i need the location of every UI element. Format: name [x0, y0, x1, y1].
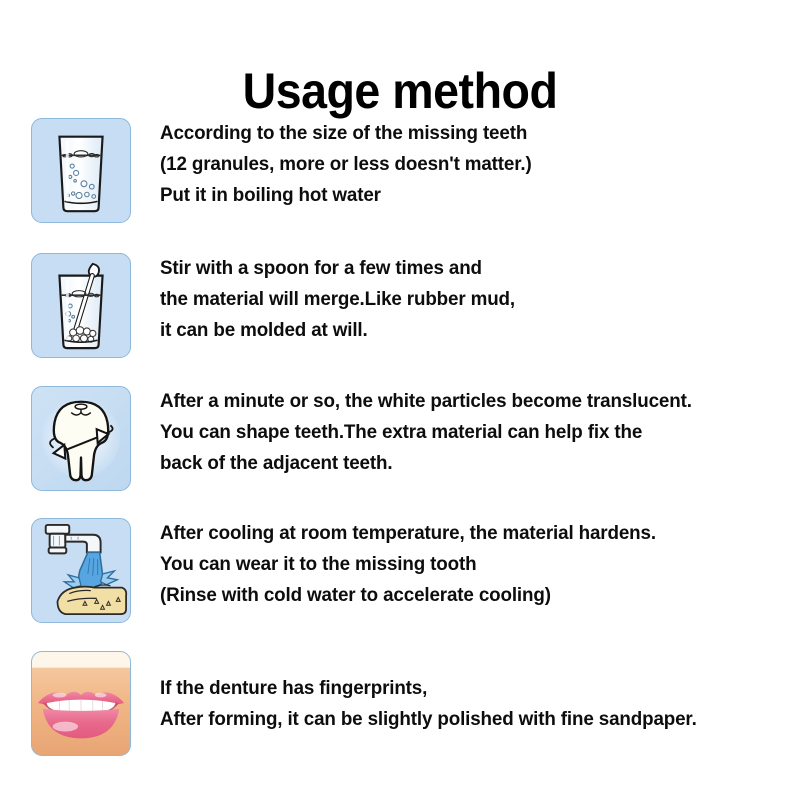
step-4-text: After cooling at room temperature, the m…: [160, 518, 768, 611]
glass-of-boiling-water-icon: [32, 119, 130, 222]
step-1-line-1: According to the size of the missing tee…: [160, 118, 768, 149]
glass-with-spoon-stirring-icon: [32, 254, 130, 357]
step-4-icon-panel: [31, 518, 131, 623]
step-2-text: Stir with a spoon for a few times and th…: [160, 253, 768, 346]
step-2-icon-panel: [31, 253, 131, 358]
step-3-text: After a minute or so, the white particle…: [160, 386, 768, 479]
smiling-mouth-teeth-icon: [32, 652, 130, 755]
tooth-shaping-icon: [32, 387, 130, 490]
step-5-line-2: After forming, it can be slightly polish…: [160, 704, 768, 735]
step-1-line-3: Put it in boiling hot water: [160, 180, 768, 211]
step-5-line-1: If the denture has fingerprints,: [160, 673, 768, 704]
step-2-line-1: Stir with a spoon for a few times and: [160, 253, 768, 284]
step-5-text: If the denture has fingerprints, After f…: [160, 673, 768, 735]
step-1-icon-panel: [31, 118, 131, 223]
step-2-line-3: it can be molded at will.: [160, 315, 768, 346]
step-5-icon-panel: [31, 651, 131, 756]
page-title: Usage method: [28, 62, 772, 120]
step-3-line-2: You can shape teeth.The extra material c…: [160, 417, 768, 448]
step-3-icon-panel: [31, 386, 131, 491]
usage-method-infographic: Usage method: [0, 0, 800, 800]
step-3-line-1: After a minute or so, the white particle…: [160, 386, 768, 417]
step-4-line-1: After cooling at room temperature, the m…: [160, 518, 768, 549]
step-1-line-2: (12 granules, more or less doesn't matte…: [160, 149, 768, 180]
faucet-washing-hands-icon: [32, 519, 130, 622]
step-3-line-3: back of the adjacent teeth.: [160, 448, 768, 479]
step-2-line-2: the material will merge.Like rubber mud,: [160, 284, 768, 315]
step-4-line-3: (Rinse with cold water to accelerate coo…: [160, 580, 768, 611]
step-4-line-2: You can wear it to the missing tooth: [160, 549, 768, 580]
step-1-text: According to the size of the missing tee…: [160, 118, 768, 211]
